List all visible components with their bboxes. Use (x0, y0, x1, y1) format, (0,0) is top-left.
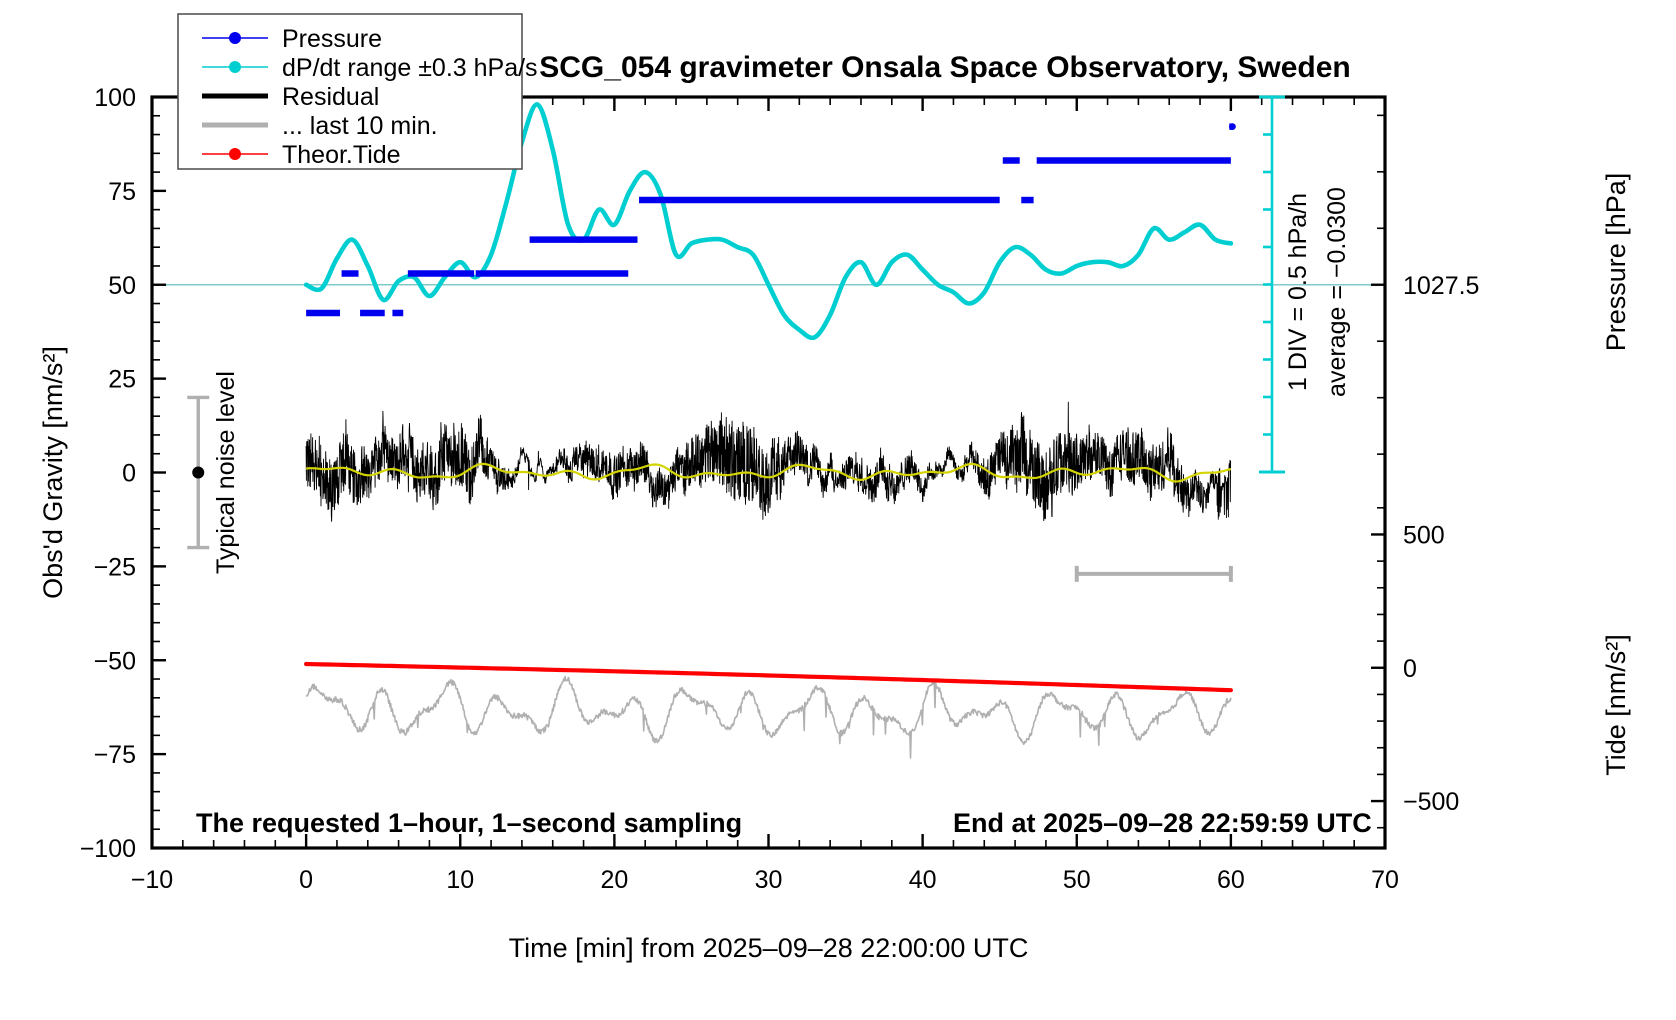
x-tick-label: 0 (299, 866, 313, 894)
legend-swatch-marker (229, 32, 241, 44)
x-tick-label: 60 (1217, 866, 1245, 894)
y-left-tick-label: −100 (80, 835, 136, 863)
x-tick-label: −10 (131, 866, 173, 894)
y-left-tick-label: 100 (94, 84, 136, 112)
y-right-tide-axis-label: Tide [nm/s²] (1601, 634, 1631, 776)
chart-root: −10010203040506070Time [min] from 2025–0… (0, 0, 1676, 1020)
footer-end-time: End at 2025–09–28 22:59:59 UTC (953, 808, 1372, 838)
y-left-tick-label: 0 (122, 460, 136, 488)
y-right-pressure-tick-label: 1027.5 (1403, 272, 1479, 300)
x-tick-label: 50 (1063, 866, 1091, 894)
x-tick-label: 40 (909, 866, 937, 894)
pressure-end-marker (1229, 123, 1236, 130)
dpdt-scalebar-div-label: 1 DIV = 0.5 hPa/h (1284, 193, 1312, 391)
y-left-tick-label: 50 (108, 272, 136, 300)
legend-swatch-marker (229, 61, 241, 73)
x-tick-label: 20 (600, 866, 628, 894)
legend-swatch-marker (229, 148, 241, 160)
legend-item-label: Theor.Tide (282, 141, 401, 169)
x-tick-label: 10 (446, 866, 474, 894)
y-right-tide-tick-label: 500 (1403, 521, 1445, 549)
x-tick-label: 30 (755, 866, 783, 894)
chart-title: SCG_054 gravimeter Onsala Space Observat… (539, 51, 1351, 84)
y-right-pressure-axis-label: Pressure [hPa] (1601, 173, 1631, 352)
y-left-tick-label: −50 (94, 647, 136, 675)
legend-item-label: Residual (282, 83, 379, 111)
x-tick-label: 70 (1371, 866, 1399, 894)
legend-item-label: ... last 10 min. (282, 112, 438, 140)
legend-item-label: dP/dt range ±0.3 hPa/s (282, 54, 538, 82)
x-axis-label: Time [min] from 2025–09–28 22:00:00 UTC (509, 933, 1029, 963)
noise-level-center-dot (192, 467, 204, 479)
footer-sampling-note: The requested 1–hour, 1–second sampling (196, 808, 742, 838)
y-left-axis-label: Obs'd Gravity [nm/s²] (38, 346, 68, 599)
dpdt-scalebar-average-label: average = −0.0300 (1323, 187, 1351, 397)
y-right-tide-tick-label: −500 (1403, 788, 1459, 816)
y-left-tick-label: −25 (94, 553, 136, 581)
noise-level-label: Typical noise level (212, 371, 240, 574)
y-left-tick-label: −75 (94, 741, 136, 769)
legend-item-label: Pressure (282, 25, 382, 53)
y-right-tide-tick-label: 0 (1403, 655, 1417, 683)
gravimeter-plot: −10010203040506070Time [min] from 2025–0… (0, 0, 1676, 1020)
y-left-tick-label: 75 (108, 178, 136, 206)
y-left-tick-label: 25 (108, 366, 136, 394)
